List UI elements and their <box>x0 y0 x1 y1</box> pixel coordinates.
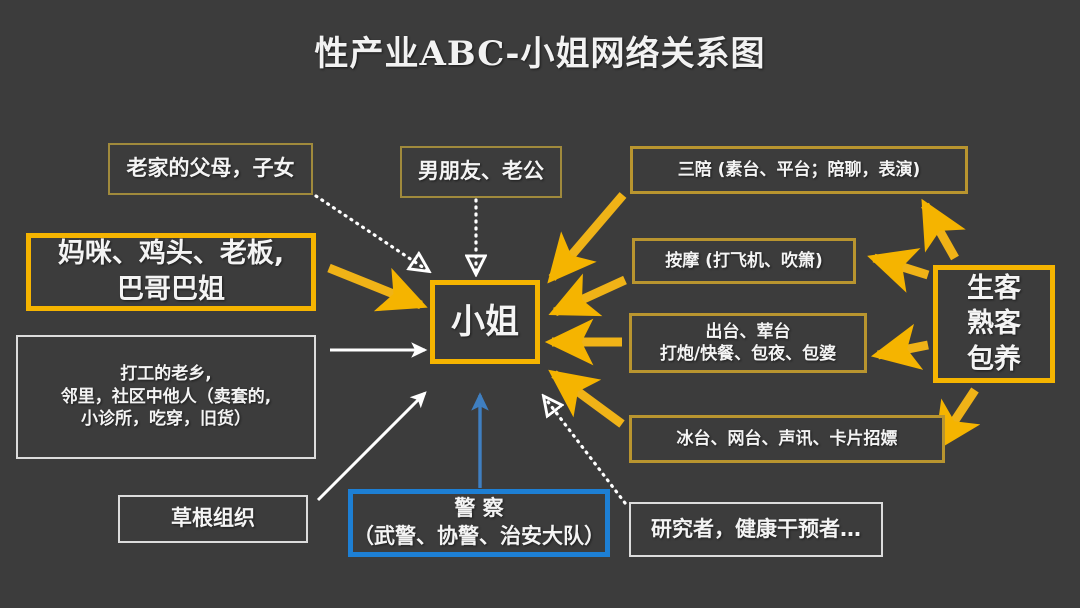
node-boyfriend-line1: 男朋友、老公 <box>402 158 560 186</box>
edge-managers-to-center <box>329 268 421 305</box>
node-managers[interactable]: 妈咪、鸡头、老板, 巴哥巴姐 <box>26 233 316 311</box>
node-grassroots[interactable]: 草根组织 <box>118 495 308 543</box>
node-police-line1: 警 察 <box>353 495 605 523</box>
node-clients-line1: 生客 <box>938 271 1050 307</box>
node-managers-line1: 妈咪、鸡头、老板, <box>31 236 311 272</box>
node-boyfriend[interactable]: 男朋友、老公 <box>400 146 562 198</box>
node-service-chutai-line1: 出台、荤台 <box>632 321 864 343</box>
node-police-line2: （武警、协警、治安大队） <box>353 523 605 551</box>
node-community-line3: 小诊所，吃穿，旧货） <box>18 408 314 430</box>
node-family-line1: 老家的父母，子女 <box>110 155 311 183</box>
node-community[interactable]: 打工的老乡, 邻里，社区中他人（卖套的, 小诊所，吃穿，旧货） <box>16 335 316 459</box>
node-researchers[interactable]: 研究者，健康干预者… <box>629 502 883 557</box>
node-community-line1: 打工的老乡, <box>18 363 314 385</box>
node-managers-line2: 巴哥巴姐 <box>31 272 311 308</box>
edge-clients-to-massage <box>874 258 928 275</box>
page-title: 性产业ABC-小姐网络关系图 <box>0 26 1080 75</box>
node-clients-line3: 包养 <box>938 342 1050 378</box>
node-community-line2: 邻里，社区中他人（卖套的, <box>18 386 314 408</box>
node-service-massage[interactable]: 按摩 (打飞机、吹箫) <box>632 238 856 284</box>
node-service-bingtai[interactable]: 冰台、网台、声讯、卡片招嫖 <box>629 415 945 463</box>
edge-sanpei-to-center <box>552 195 623 278</box>
edge-grassroots-to-center <box>318 393 425 500</box>
node-center-xiaojie[interactable]: 小姐 <box>430 280 540 364</box>
node-service-chutai-line2: 打炮/快餐、包夜、包婆 <box>632 343 864 365</box>
edge-bingtai-to-center <box>554 374 622 424</box>
node-clients[interactable]: 生客 熟客 包养 <box>933 265 1055 383</box>
edge-clients-to-sanpei <box>925 205 955 258</box>
node-researchers-line1: 研究者，健康干预者… <box>631 516 881 544</box>
node-clients-line2: 熟客 <box>938 306 1050 342</box>
edge-massage-to-center <box>555 280 625 312</box>
node-service-massage-line1: 按摩 (打飞机、吹箫) <box>635 250 853 272</box>
node-service-sanpei-line1: 三陪 (素台、平台；陪聊，表演) <box>633 159 965 181</box>
edge-family-to-center <box>316 196 427 270</box>
node-grassroots-line1: 草根组织 <box>120 505 306 533</box>
node-service-sanpei[interactable]: 三陪 (素台、平台；陪聊，表演) <box>630 146 968 194</box>
node-police[interactable]: 警 察 （武警、协警、治安大队） <box>348 489 610 557</box>
diagram-canvas: 性产业ABC-小姐网络关系图 <box>0 0 1080 608</box>
node-service-chutai[interactable]: 出台、荤台 打炮/快餐、包夜、包婆 <box>629 313 867 373</box>
node-center-label: 小姐 <box>435 300 535 345</box>
node-service-bingtai-line1: 冰台、网台、声讯、卡片招嫖 <box>632 428 942 450</box>
edge-researchers-to-center <box>545 398 625 503</box>
node-family[interactable]: 老家的父母，子女 <box>108 143 313 195</box>
edge-clients-to-chutai <box>878 345 928 355</box>
